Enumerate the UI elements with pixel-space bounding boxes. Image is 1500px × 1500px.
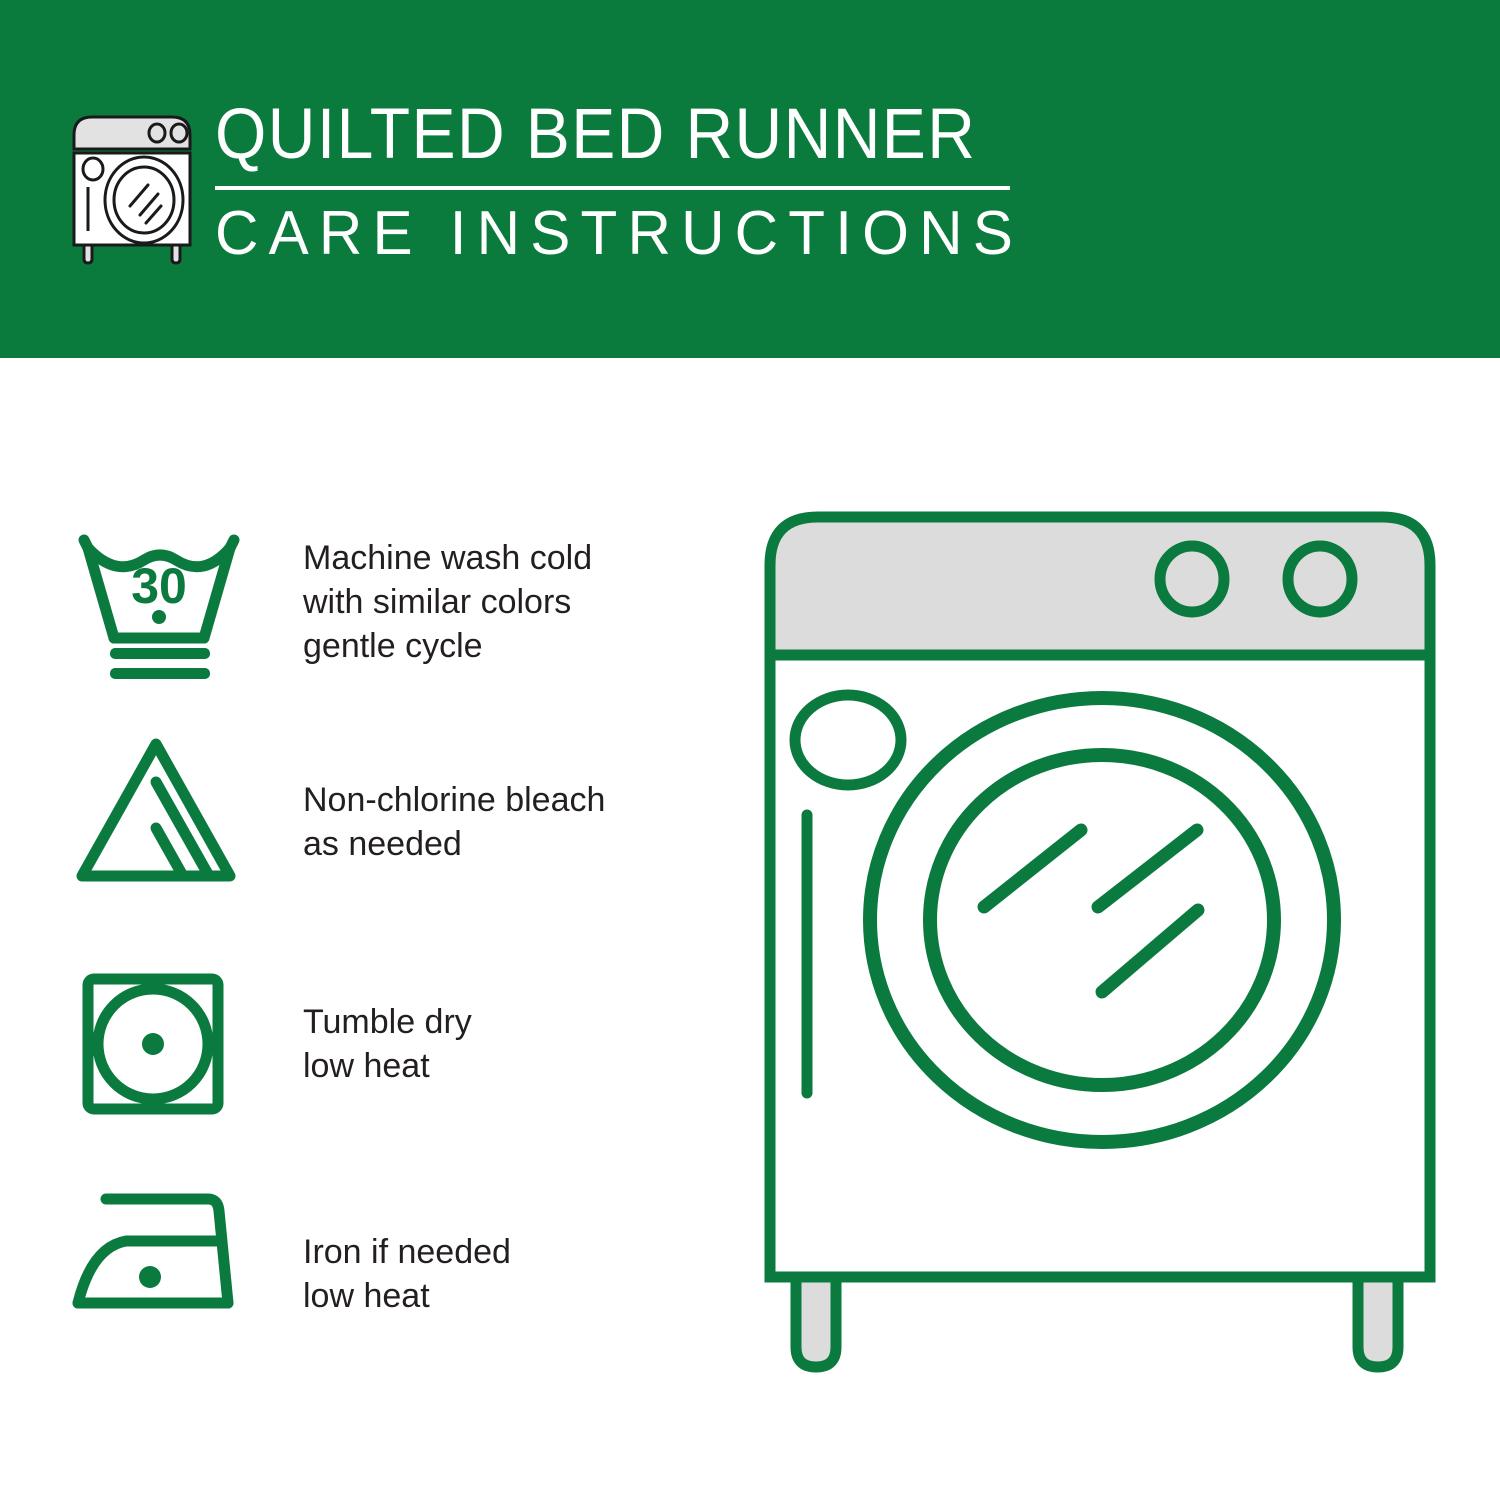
page-title: QUILTED BED RUNNER (215, 96, 959, 174)
machine-control-panel (770, 517, 1430, 655)
care-instruction-row-bleach: Non-chlorine bleach as needed (0, 730, 700, 920)
non-chlorine-bleach-symbol (70, 730, 250, 900)
machine-wash-30-gentle-symbol: 30 (70, 520, 250, 690)
care-instruction-row-wash: 30 Machine wash cold with similar colors… (0, 520, 700, 710)
washing-machine-illustration (750, 495, 1450, 1415)
iron-low-heat-symbol (70, 1185, 250, 1355)
tumble-dry-low-symbol (70, 965, 250, 1135)
machine-leg-right (1358, 1277, 1398, 1367)
care-instruction-label-wash: Machine wash cold with similar colors ge… (303, 536, 683, 668)
header-text-block: QUILTED BED RUNNER (215, 96, 1015, 174)
header-divider (215, 186, 1010, 190)
care-instruction-row-iron: Iron if needed low heat (0, 1185, 700, 1375)
care-instruction-label-dry: Tumble dry low heat (303, 1000, 683, 1088)
header-bar: QUILTED BED RUNNER CARE INSTRUCTIONS (0, 0, 1500, 358)
care-instruction-row-dry: Tumble dry low heat (0, 965, 700, 1155)
care-instruction-label-iron: Iron if needed low heat (303, 1230, 683, 1318)
machine-leg-left (796, 1277, 836, 1367)
care-instruction-label-bleach: Non-chlorine bleach as needed (303, 778, 683, 866)
page-subtitle: CARE INSTRUCTIONS (215, 199, 1023, 269)
washing-machine-icon (62, 105, 202, 265)
svg-text:30: 30 (131, 558, 187, 614)
